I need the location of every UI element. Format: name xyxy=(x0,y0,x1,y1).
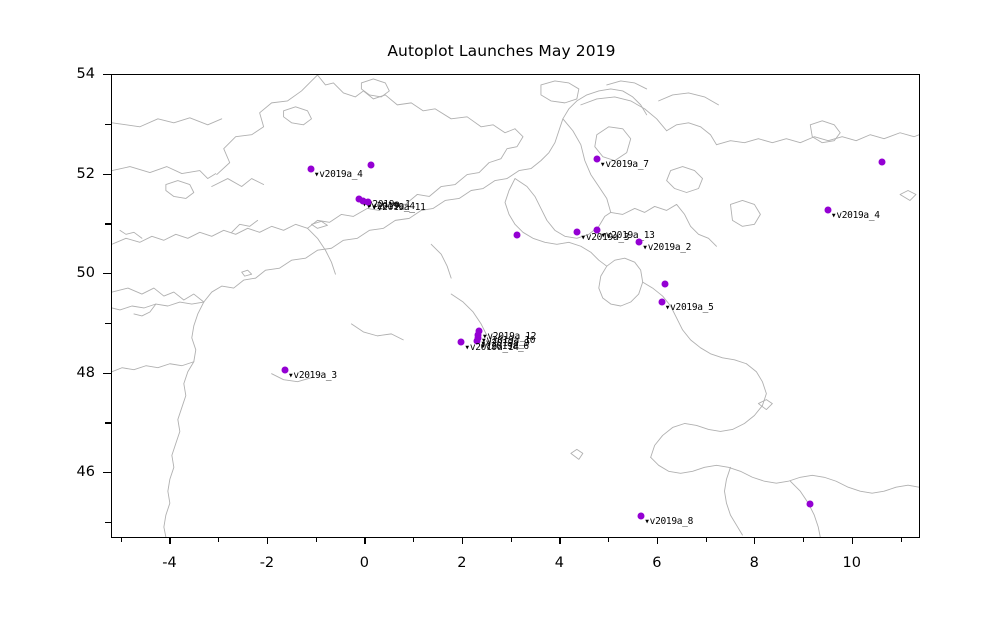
y-tick-minor xyxy=(105,223,111,224)
chart-title: Autoplot Launches May 2019 xyxy=(0,42,1003,60)
scatter-point-label: ▾v2019a_8 xyxy=(644,517,693,527)
scatter-point xyxy=(368,161,375,168)
coastline-map xyxy=(112,75,919,537)
scatter-point-label: ▾v2019a_13 xyxy=(600,231,654,241)
x-tick-major xyxy=(169,538,170,544)
x-tick-minor xyxy=(706,538,707,542)
x-tick-major xyxy=(754,538,755,544)
y-tick-major xyxy=(103,472,111,473)
x-tick-major xyxy=(364,538,365,544)
y-tick-label: 54 xyxy=(77,66,95,82)
scatter-point-label: ▾v2019a_2 xyxy=(642,243,691,253)
scatter-point-label: ▾v2019a_5 xyxy=(665,303,714,313)
scatter-point-label: ▾v2019a_11 xyxy=(371,203,425,213)
plot-axes-area: ▾v2019a_4▾v2019a_1▾v2019a_4▾v2019a_11▾v2… xyxy=(111,74,920,538)
scatter-point xyxy=(661,280,668,287)
y-tick-major xyxy=(103,273,111,274)
figure-canvas: Autoplot Launches May 2019 xyxy=(0,0,1003,633)
x-tick-minor xyxy=(218,538,219,542)
x-tick-label: 6 xyxy=(652,555,661,571)
scatter-point xyxy=(878,159,885,166)
scatter-point xyxy=(806,501,813,508)
x-tick-label: 2 xyxy=(457,555,466,571)
x-tick-label: 0 xyxy=(360,555,369,571)
y-tick-minor xyxy=(105,522,111,523)
scatter-point-label: ▾v2019a_14 xyxy=(464,343,518,353)
x-tick-minor xyxy=(413,538,414,542)
scatter-point xyxy=(514,232,521,239)
x-tick-major xyxy=(852,538,853,544)
x-tick-major xyxy=(657,538,658,544)
y-tick-major xyxy=(103,373,111,374)
y-tick-label: 52 xyxy=(77,166,95,182)
x-tick-major xyxy=(559,538,560,544)
y-tick-minor xyxy=(105,323,111,324)
x-tick-minor xyxy=(511,538,512,542)
y-tick-major xyxy=(103,74,111,75)
x-tick-minor xyxy=(316,538,317,542)
x-tick-label: -4 xyxy=(162,555,176,571)
y-tick-minor xyxy=(105,422,111,423)
x-tick-label: -2 xyxy=(260,555,274,571)
scatter-point-label: ▾v2019a_7 xyxy=(600,160,649,170)
x-tick-minor xyxy=(803,538,804,542)
y-tick-label: 48 xyxy=(77,365,95,381)
x-tick-minor xyxy=(121,538,122,542)
x-tick-label: 8 xyxy=(750,555,759,571)
scatter-point-label: ▾v2019a_4 xyxy=(831,211,880,221)
y-tick-major xyxy=(103,174,111,175)
scatter-point-label: ▾v2019a_4 xyxy=(314,170,363,180)
y-tick-label: 46 xyxy=(77,464,95,480)
y-tick-label: 50 xyxy=(77,265,95,281)
y-tick-minor xyxy=(105,124,111,125)
x-tick-minor xyxy=(608,538,609,542)
x-tick-label: 10 xyxy=(843,555,861,571)
x-tick-major xyxy=(267,538,268,544)
x-tick-minor xyxy=(901,538,902,542)
x-tick-major xyxy=(462,538,463,544)
x-tick-label: 4 xyxy=(555,555,564,571)
scatter-point-label: ▾v2019a_3 xyxy=(288,371,337,381)
